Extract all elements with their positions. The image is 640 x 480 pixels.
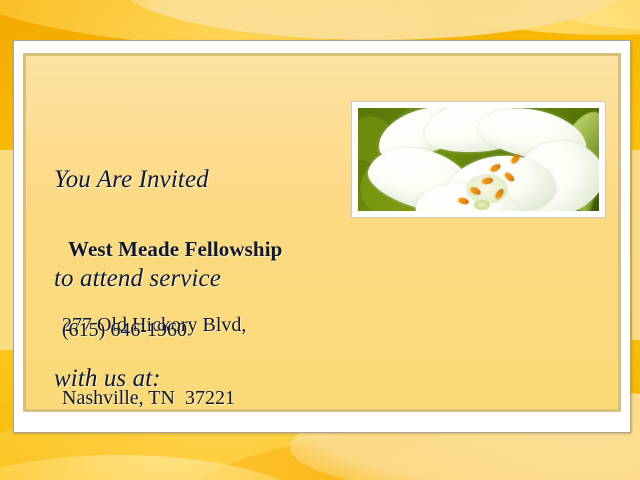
white-easter-lily-photo xyxy=(358,108,599,211)
lily-stigma xyxy=(474,200,490,210)
content-panel: You Are Invited to attend service with u… xyxy=(23,53,621,412)
organization-name: West Meade Fellowship xyxy=(68,237,282,262)
invitation-slide: You Are Invited to attend service with u… xyxy=(0,0,640,480)
content-frame: You Are Invited to attend service with u… xyxy=(13,40,631,433)
address-city-state-zip: Nashville, TN 37221 xyxy=(62,386,246,410)
headline-line-1: You Are Invited xyxy=(54,163,221,196)
panel-bleed-left xyxy=(0,150,13,350)
photo-frame xyxy=(351,101,606,218)
phone-number: (615) 646-1960 xyxy=(62,319,187,342)
address-block: 277 Old Hickory Blvd, Nashville, TN 3722… xyxy=(62,265,246,459)
panel-bleed-right xyxy=(632,150,640,340)
